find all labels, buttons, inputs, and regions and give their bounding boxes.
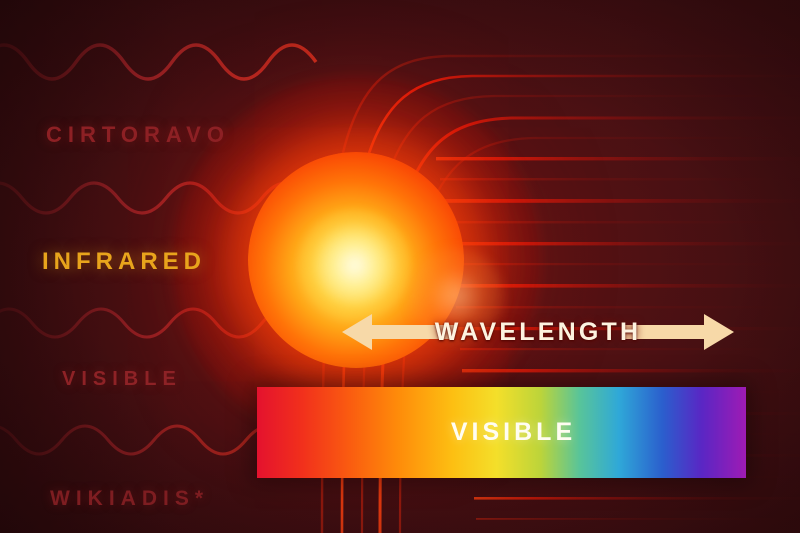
arrow-left-icon <box>342 314 454 350</box>
arrow-right-icon <box>622 314 734 350</box>
illustration-canvas: CIRTORAVO INFRARED VISIBLE WIKIADIS* WAV… <box>0 0 800 533</box>
wavelength-annotation: WAVELENGTH <box>336 306 740 358</box>
spectrum-label: VISIBLE <box>269 387 758 478</box>
visible-spectrum-bar: VISIBLE <box>257 387 746 478</box>
